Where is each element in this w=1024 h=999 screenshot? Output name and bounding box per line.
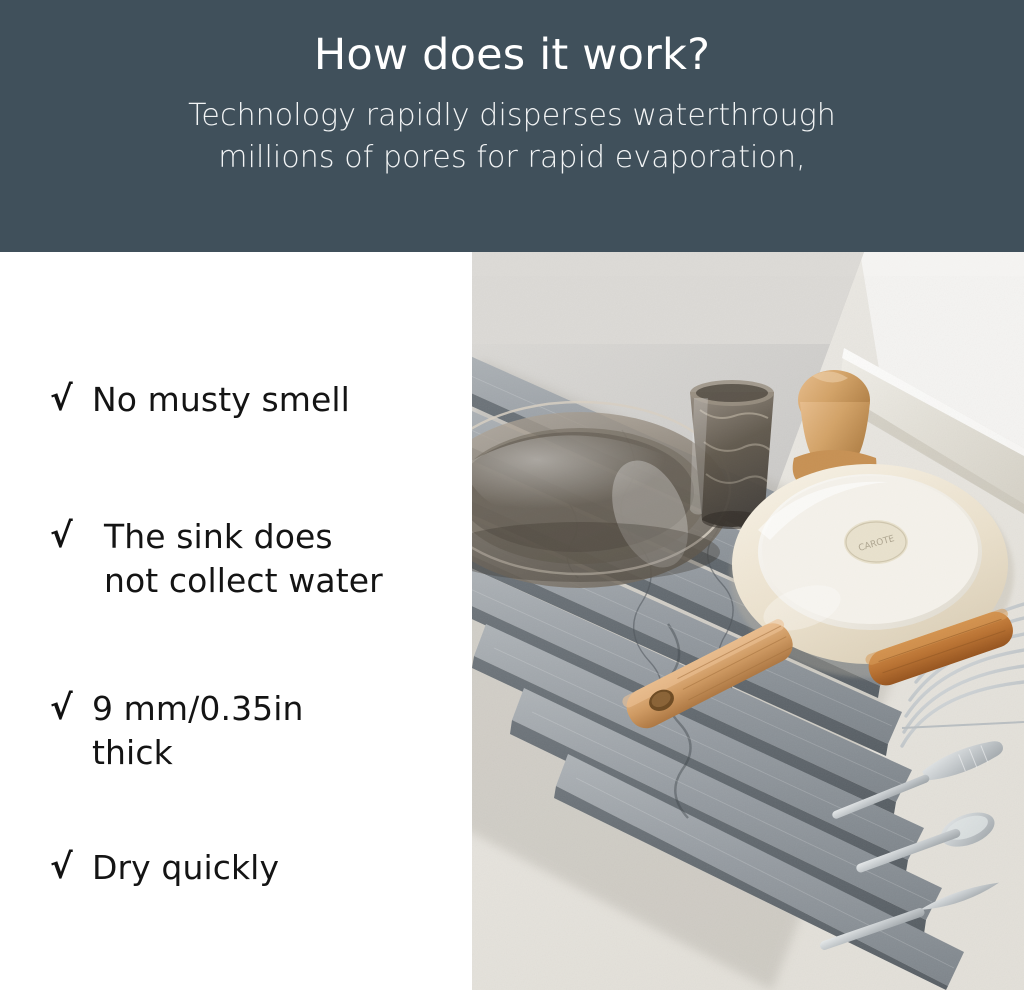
infographic-page: How does it work? Technology rapidly dis… xyxy=(0,0,1024,999)
header-banner: How does it work? Technology rapidly dis… xyxy=(0,0,1024,252)
product-photo-illustration: CAROTE xyxy=(472,252,1024,990)
subtitle-line-2: millions of pores for rapid evaporation, xyxy=(188,137,836,180)
feature-label: Dry quickly xyxy=(92,846,279,890)
page-title: How does it work? xyxy=(314,30,710,81)
subtitle-line-1: Technology rapidly disperses waterthroug… xyxy=(188,95,836,138)
feature-list-panel: √ No musty smell √ The sink does not col… xyxy=(0,252,472,999)
feature-item: √ No musty smell xyxy=(46,378,350,422)
check-icon: √ xyxy=(46,846,92,888)
feature-item: √ The sink does not collect water xyxy=(46,515,383,603)
feature-item: √ Dry quickly xyxy=(46,846,279,890)
check-icon: √ xyxy=(46,378,92,420)
check-icon: √ xyxy=(46,515,92,557)
product-photo: CAROTE xyxy=(472,252,1024,990)
feature-item: √ 9 mm/0.35in thick xyxy=(46,687,304,775)
feature-label: 9 mm/0.35in thick xyxy=(92,687,304,775)
feature-label: No musty smell xyxy=(92,378,350,422)
check-icon: √ xyxy=(46,687,92,729)
feature-label: The sink does not collect water xyxy=(92,515,383,603)
page-subtitle: Technology rapidly disperses waterthroug… xyxy=(188,95,836,180)
